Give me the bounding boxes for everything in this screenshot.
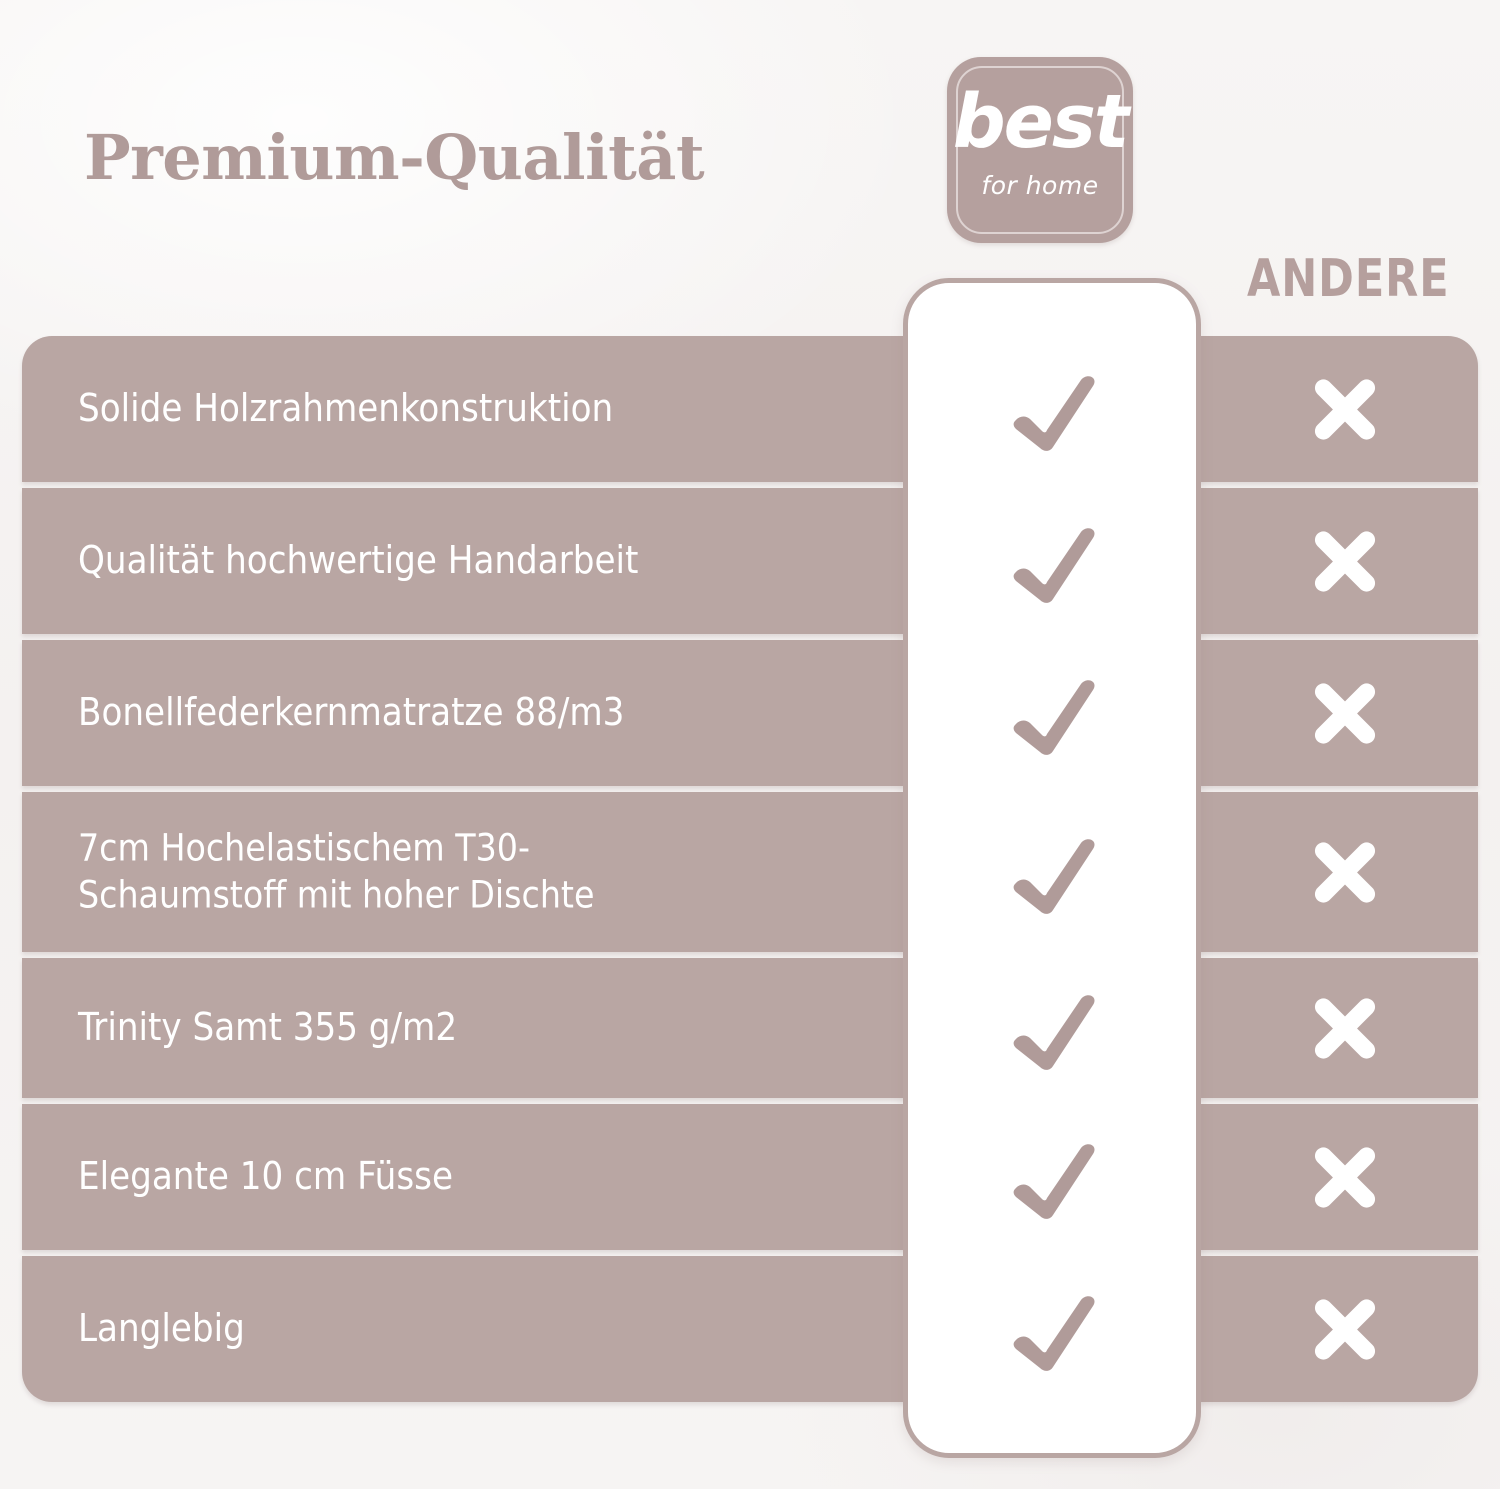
row-feature-label: Bonellfederkernmatratze 88/m3: [78, 689, 878, 737]
row-feature-label: Qualität hochwertige Handarbeit: [78, 537, 878, 585]
table-row: 7cm Hochelastischem T30-Schaumstoff mit …: [22, 792, 1478, 952]
table-row: Qualität hochwertige Handarbeit: [22, 488, 1478, 634]
check-icon: [1011, 837, 1097, 917]
table-row: Langlebig: [22, 1256, 1478, 1402]
table-row: Bonellfederkernmatratze 88/m3: [22, 640, 1478, 786]
best-column-cell: [908, 963, 1196, 1103]
page-title: Premium-Qualität: [84, 121, 704, 194]
check-icon: [1011, 993, 1097, 1073]
row-feature-label: Elegante 10 cm Füsse: [78, 1153, 878, 1201]
cross-icon: [1308, 676, 1382, 750]
cross-icon: [1308, 1140, 1382, 1214]
best-column-cell: [908, 1261, 1196, 1407]
cross-icon: [1308, 835, 1382, 909]
check-icon: [1011, 374, 1097, 454]
best-column-highlight: [903, 278, 1201, 1458]
best-column-cell: [908, 341, 1196, 487]
cross-icon: [1308, 991, 1382, 1065]
table-row: Elegante 10 cm Füsse: [22, 1104, 1478, 1250]
check-icon: [1011, 1142, 1097, 1222]
cross-icon: [1308, 1292, 1382, 1366]
check-icon: [1011, 1294, 1097, 1374]
check-icon: [1011, 678, 1097, 758]
row-feature-label: Solide Holzrahmenkonstruktion: [78, 385, 878, 433]
logo-secondary-text: for home: [947, 173, 1133, 198]
check-icon: [1011, 526, 1097, 606]
row-feature-label: Trinity Samt 355 g/m2: [78, 1004, 878, 1052]
comparison-table: Solide HolzrahmenkonstruktionQualität ho…: [22, 336, 1478, 1402]
best-column-cell: [908, 645, 1196, 791]
row-feature-label: Langlebig: [78, 1305, 878, 1353]
best-column-check-list: [908, 341, 1196, 1407]
best-column-cell: [908, 797, 1196, 957]
logo-primary-text: best: [947, 85, 1133, 159]
best-for-home-logo: best for home: [947, 57, 1133, 243]
cross-icon: [1308, 372, 1382, 446]
best-column-cell: [908, 1109, 1196, 1255]
table-row: Solide Holzrahmenkonstruktion: [22, 336, 1478, 482]
table-row: Trinity Samt 355 g/m2: [22, 958, 1478, 1098]
cross-icon: [1308, 524, 1382, 598]
best-column-cell: [908, 493, 1196, 639]
others-column-header: ANDERE: [1247, 249, 1450, 309]
row-feature-label: 7cm Hochelastischem T30-Schaumstoff mit …: [78, 825, 878, 918]
